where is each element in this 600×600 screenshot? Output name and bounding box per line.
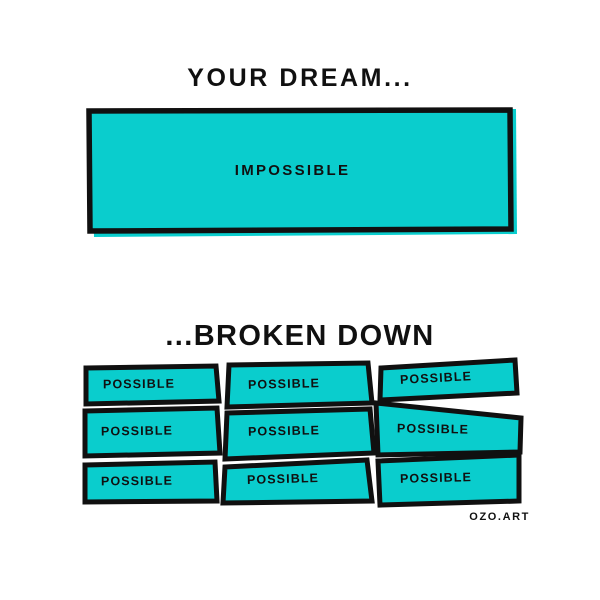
possible-label-r2c3: POSSIBLE (397, 421, 469, 436)
heading-your-dream: YOUR DREAM... (0, 64, 600, 93)
possible-grid: POSSIBLE POSSIBLE POSSIBLE POSSIBLE POSS… (75, 355, 530, 510)
artist-signature: OZO.ART (430, 511, 530, 523)
impossible-label: IMPOSSIBLE (80, 162, 505, 179)
possible-label-r1c1: POSSIBLE (103, 377, 175, 392)
poster-canvas: YOUR DREAM... IMPOSSIBLE ...BROKEN DOWN (0, 0, 600, 600)
possible-label-r2c2: POSSIBLE (248, 423, 320, 439)
heading-broken-down: ...BROKEN DOWN (0, 320, 600, 353)
possible-label-r1c2: POSSIBLE (248, 376, 320, 392)
possible-label-r3c1: POSSIBLE (101, 474, 173, 489)
possible-label-r3c3: POSSIBLE (400, 470, 472, 486)
impossible-block: IMPOSSIBLE (80, 100, 525, 250)
possible-label-r3c2: POSSIBLE (247, 471, 319, 487)
possible-label-r2c1: POSSIBLE (101, 423, 173, 438)
